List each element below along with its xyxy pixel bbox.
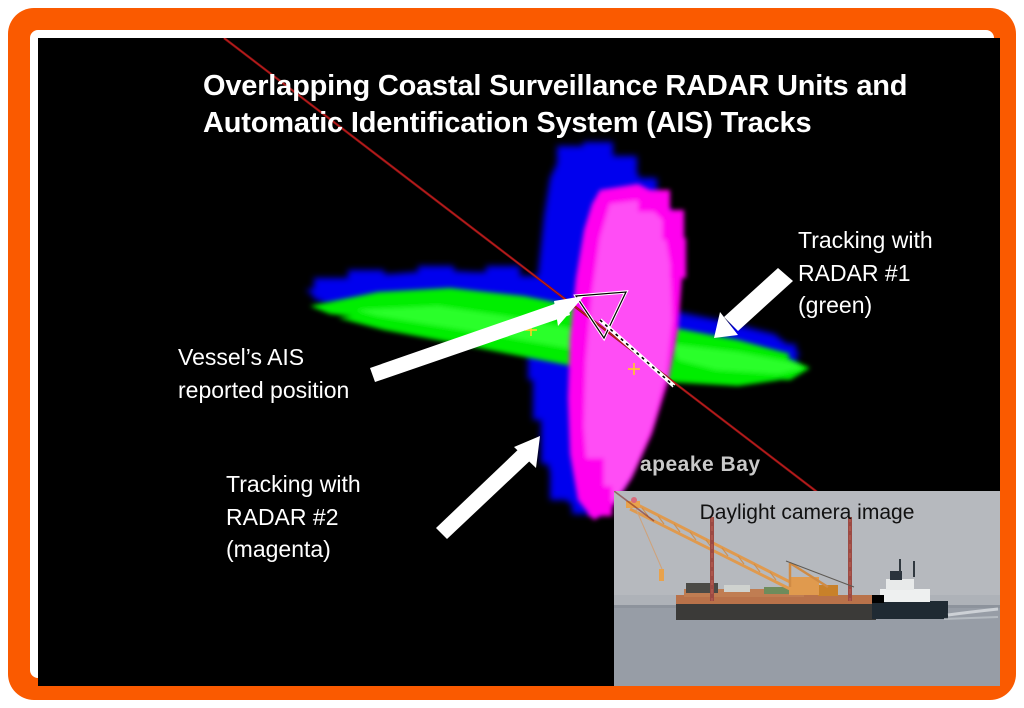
photo-caption: Daylight camera image: [614, 501, 1000, 525]
slide-title: Overlapping Coastal Surveillance RADAR U…: [203, 68, 993, 142]
map-label-chesapeake-bay: apeake Bay: [640, 453, 761, 477]
radar-display-canvas[interactable]: Overlapping Coastal Surveillance RADAR U…: [38, 38, 1000, 686]
annotation-ais-label: Vessel’s AIS reported position: [178, 341, 438, 406]
annotation-radar-2-label: Tracking with RADAR #2 (magenta): [226, 468, 456, 566]
slide-orange-frame: Overlapping Coastal Surveillance RADAR U…: [8, 8, 1016, 700]
annotation-radar-1-label: Tracking with RADAR #1 (green): [798, 224, 1000, 322]
daylight-camera-photo[interactable]: Daylight camera image: [614, 491, 1000, 686]
